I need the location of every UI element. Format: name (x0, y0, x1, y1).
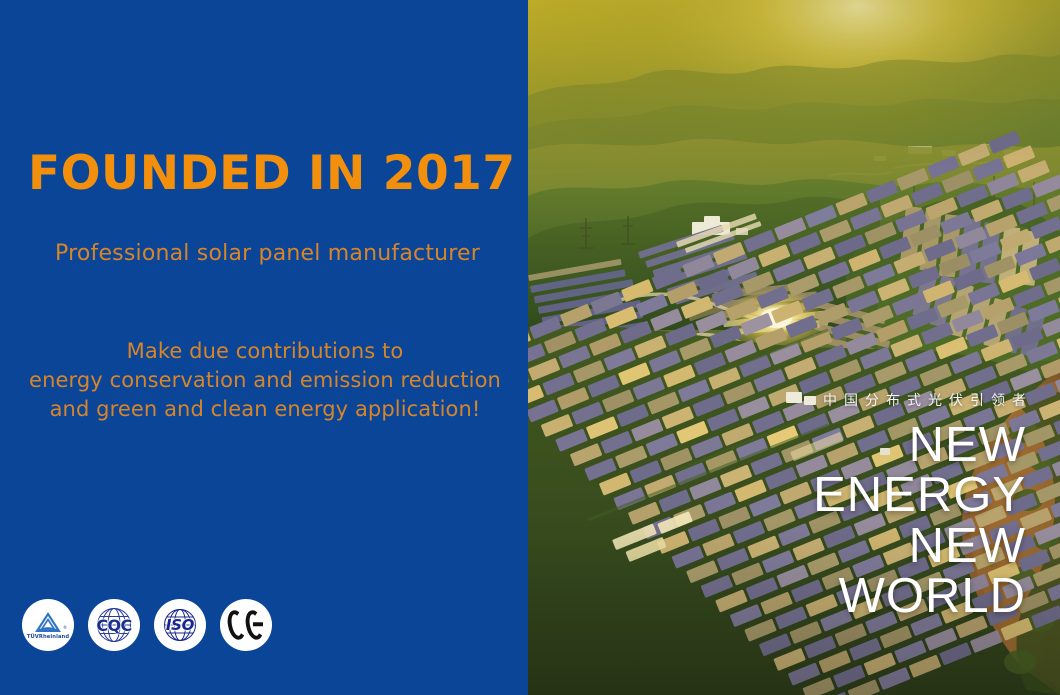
ce-mark-icon (228, 610, 263, 640)
ce-badge (220, 599, 272, 651)
page-title: FOUNDED IN 2017 (28, 150, 523, 197)
iso-label: ISO (166, 616, 194, 634)
solar-farm-photo: 中国分布式光伏引领者 NEW ENERGY NEW WORLD (528, 0, 1060, 695)
tuv-rheinland-badge: TÜVRheinland ® (22, 599, 74, 651)
body-line-1: Make due contributions to (10, 337, 520, 366)
tagline-line-4: WORLD (813, 571, 1026, 621)
tuv-label: TÜVRheinland (27, 634, 69, 640)
certification-badges: TÜVRheinland ® CQC (22, 599, 272, 651)
body-copy: Make due contributions to energy conserv… (10, 337, 520, 424)
tagline-line-2: ENERGY (813, 470, 1026, 520)
body-line-3: and green and clean energy application! (10, 395, 520, 424)
tagline-line-1: NEW (813, 420, 1026, 470)
tagline-line-3: NEW (813, 521, 1026, 571)
cqc-label: CQC (96, 616, 131, 635)
tuv-triangle-icon (35, 612, 61, 633)
chinese-tagline: 中国分布式光伏引领者 (813, 390, 1033, 410)
left-blue-panel: FOUNDED IN 2017 Professional solar panel… (0, 0, 528, 695)
promo-banner: FOUNDED IN 2017 Professional solar panel… (0, 0, 1060, 695)
tuv-registered-mark: ® (63, 625, 67, 630)
subtitle: Professional solar panel manufacturer (55, 241, 480, 266)
photo-overlay-text: 中国分布式光伏引领者 NEW ENERGY NEW WORLD (813, 390, 1026, 622)
cqc-badge: CQC (88, 599, 140, 651)
iso-badge: ISO (154, 599, 206, 651)
body-line-2: energy conservation and emission reducti… (10, 366, 520, 395)
english-tagline: NEW ENERGY NEW WORLD (813, 420, 1026, 622)
